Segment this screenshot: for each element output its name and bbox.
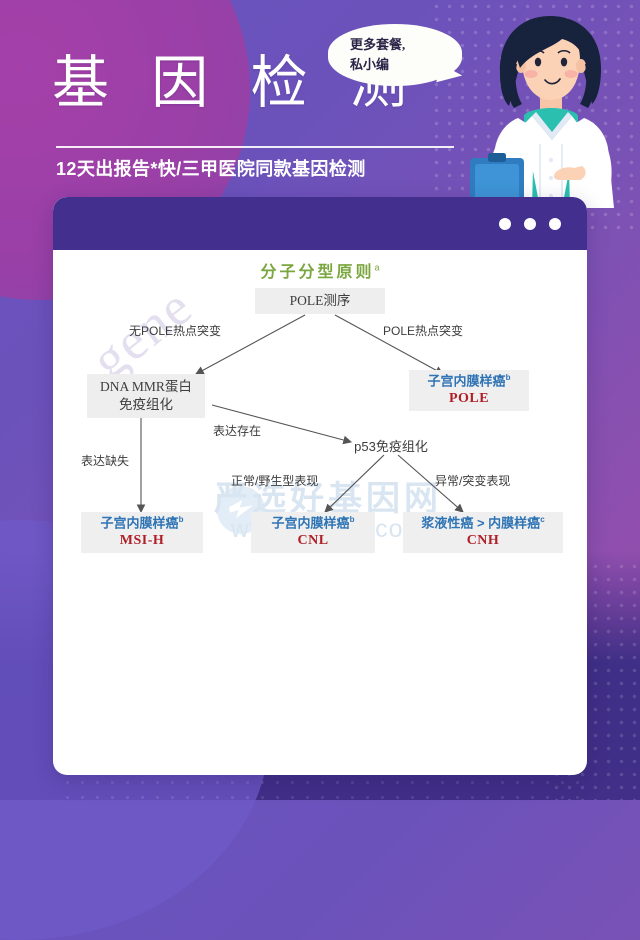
result-cnh-cn: 浆液性癌 > 内膜样癌c xyxy=(411,515,555,532)
edge-label-normal-wildtype: 正常/野生型表现 xyxy=(231,472,318,489)
result-box-cnl[interactable]: 子宫内膜样癌b CNL xyxy=(251,512,375,553)
result-box-pole[interactable]: 子宫内膜样癌b POLE xyxy=(409,370,529,411)
result-msih-cn: 子宫内膜样癌b xyxy=(89,515,195,532)
title-divider xyxy=(56,146,454,148)
speech-bubble-line-1: 更多套餐, xyxy=(350,35,462,55)
edge-label-expression-present: 表达存在 xyxy=(213,422,261,439)
result-box-cnh[interactable]: 浆液性癌 > 内膜样癌c CNH xyxy=(403,512,563,553)
edge-label-loss-of-expression: 表达缺失 xyxy=(81,452,129,469)
result-cnl-cn: 子宫内膜样癌b xyxy=(259,515,367,532)
edge-label-abnormal-mutant: 异常/突变表现 xyxy=(435,472,510,489)
node-p53-ihc[interactable]: p53免疫组化 xyxy=(341,436,441,455)
result-box-msi-h[interactable]: 子宫内膜样癌b MSI-H xyxy=(81,512,203,553)
window-dot-2[interactable] xyxy=(524,218,536,230)
card-body: gene 严选好基因网 www.hjynet.com 分子分型原则a xyxy=(53,250,587,775)
hero-subtitle: 12天出报告*快/三甲医院同款基因检测 xyxy=(56,155,366,181)
window-dot-1[interactable] xyxy=(499,218,511,230)
card-window-bar xyxy=(53,197,587,250)
edge-label-no-pole-hotspot: 无POLE热点突变 xyxy=(129,322,221,339)
result-msih-en: MSI-H xyxy=(89,532,195,550)
window-dot-3[interactable] xyxy=(549,218,561,230)
result-cnl-en: CNL xyxy=(259,532,367,550)
edge-label-pole-hotspot: POLE热点突变 xyxy=(383,322,463,339)
content-card: gene 严选好基因网 www.hjynet.com 分子分型原则a xyxy=(53,197,587,775)
speech-bubble-tail xyxy=(436,64,463,88)
hero-banner: 基 因 检 测 12天出报告*快/三甲医院同款基因检测 更多套餐, 私小编 xyxy=(0,0,640,200)
molecular-classification-flowchart: 分子分型原则a xyxy=(53,250,587,775)
doctor-illustration xyxy=(462,8,640,208)
result-pole-en: POLE xyxy=(417,390,521,408)
result-cnh-en: CNH xyxy=(411,532,555,550)
node-pole-sequencing[interactable]: POLE测序 xyxy=(255,288,385,314)
node-dna-mmr-ihc[interactable]: DNA MMR蛋白 免疫组化 xyxy=(87,374,205,418)
result-pole-cn: 子宫内膜样癌b xyxy=(417,373,521,390)
